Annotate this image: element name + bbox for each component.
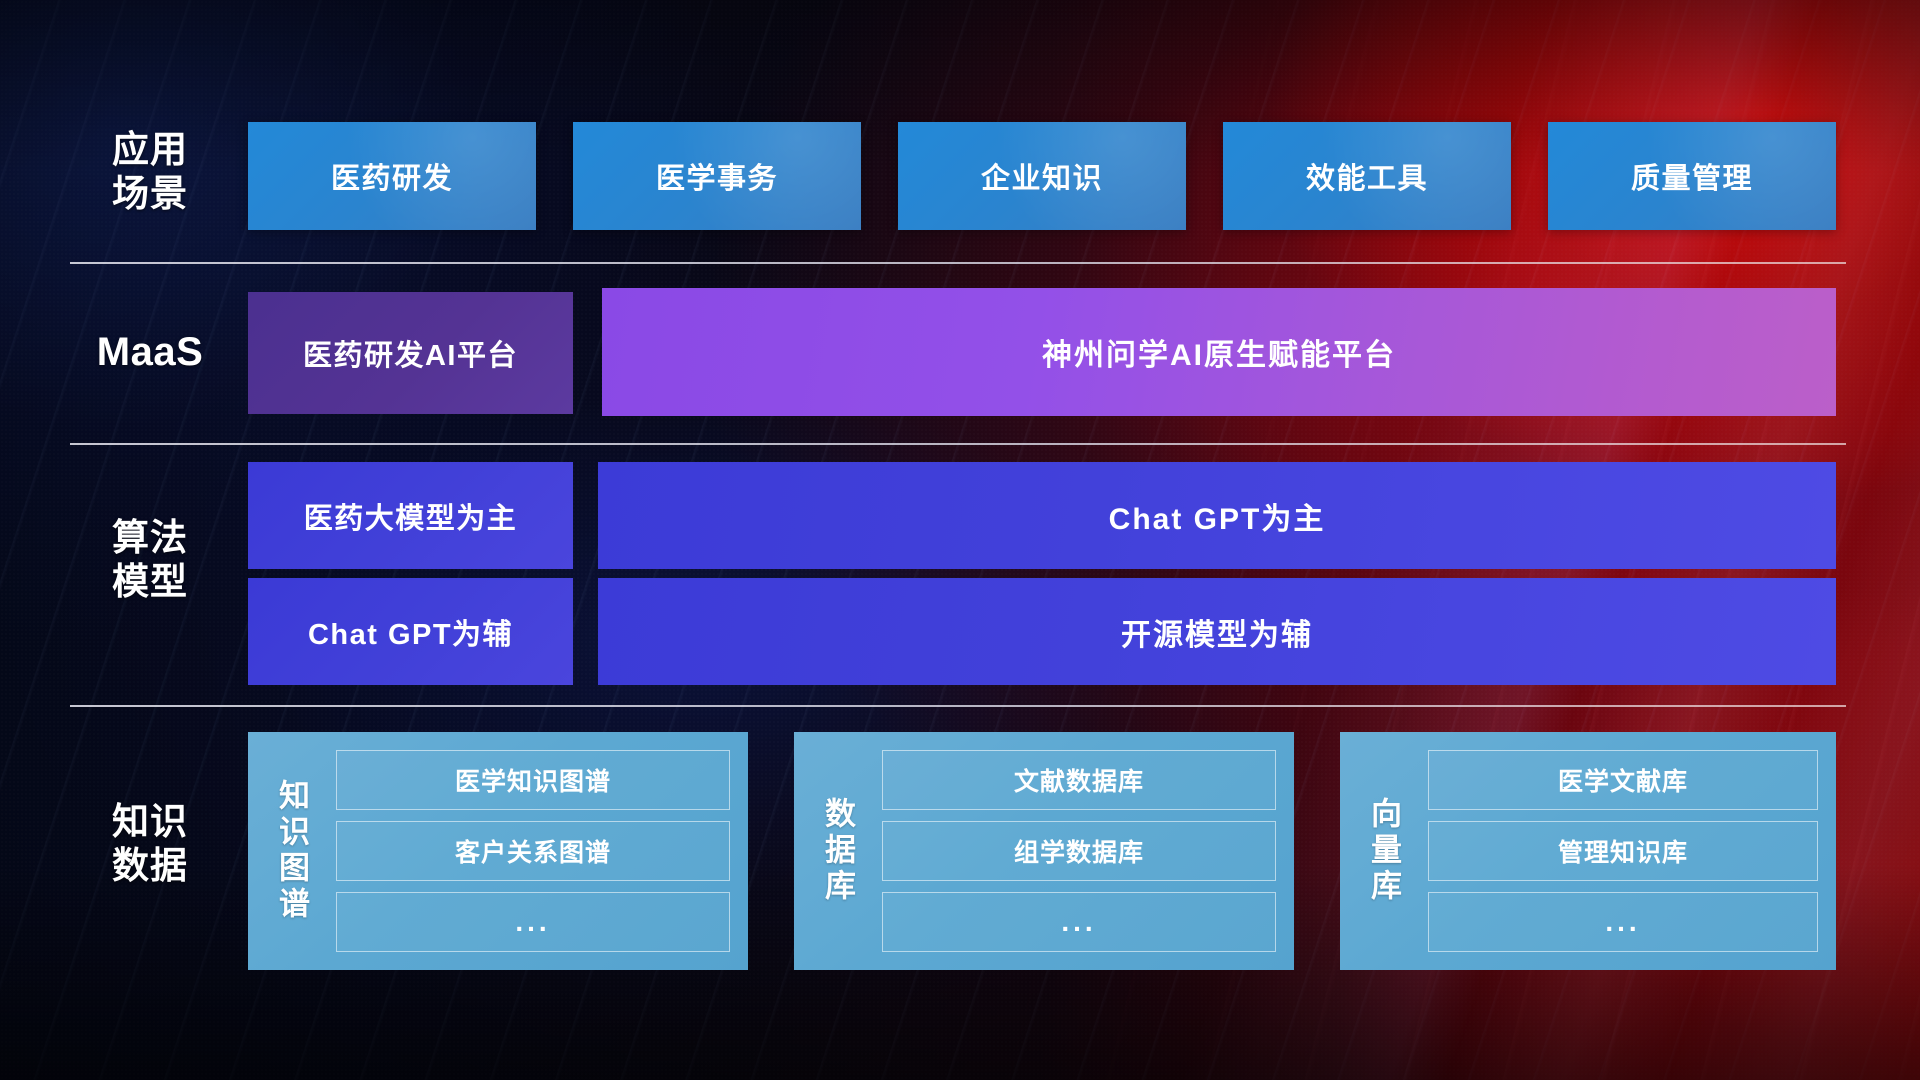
architecture-diagram: 应用 场景 医药研发 医学事务 企业知识 效能工具 质量管理 MaaS [0,0,1920,1080]
row-label-line-2: 场景 [70,172,230,216]
row-label-application-scenarios: 应用 场景 [70,128,230,216]
row-label-line-2: 数据 [70,844,230,888]
knowledge-card-vertical-label: 知识图谱 [260,746,322,956]
app-scenario-box-2[interactable]: 医学事务 [573,122,861,230]
maas-box-pharma-ai-platform[interactable]: 医药研发AI平台 [248,292,573,414]
app-scenario-label: 效能工具 [1306,155,1428,197]
knowledge-card-item[interactable]: 医学知识图谱 [336,750,730,810]
slide-canvas: 应用 场景 医药研发 医学事务 企业知识 效能工具 质量管理 MaaS [0,0,1920,1080]
knowledge-card-item[interactable]: 管理知识库 [1428,821,1818,881]
row-label-algorithm-models: 算法 模型 [70,516,230,604]
knowledge-card-item-more[interactable]: ... [336,892,730,952]
app-scenario-label: 企业知识 [981,155,1103,197]
app-scenario-box-1[interactable]: 医药研发 [248,122,536,230]
knowledge-card-item-more[interactable]: ... [1428,892,1818,952]
knowledge-card-knowledge-graph[interactable]: 知识图谱 医学知识图谱 客户关系图谱 ... [248,732,748,970]
row-label-line-1: 算法 [70,516,230,560]
knowledge-card-vertical-label: 向量库 [1352,746,1414,956]
maas-box-shenzhou-wenxue-platform[interactable]: 神州问学AI原生赋能平台 [602,288,1836,416]
knowledge-card-vector-store[interactable]: 向量库 医学文献库 管理知识库 ... [1340,732,1836,970]
algorithm-box-primary-right[interactable]: Chat GPT为主 [598,462,1836,569]
knowledge-card-database[interactable]: 数据库 文献数据库 组学数据库 ... [794,732,1294,970]
row-label-line-1: 应用 [70,128,230,172]
algorithm-box-label: 医药大模型为主 [304,495,518,537]
algorithm-box-label: Chat GPT为主 [1109,494,1326,538]
row-label-line-1: 知识 [70,800,230,844]
knowledge-card-item[interactable]: 医学文献库 [1428,750,1818,810]
maas-box-label: 医药研发AI平台 [303,332,518,374]
algorithm-box-secondary-left[interactable]: Chat GPT为辅 [248,578,573,685]
knowledge-card-item[interactable]: 组学数据库 [882,821,1276,881]
algorithm-box-label: 开源模型为辅 [1121,610,1313,654]
app-scenario-box-4[interactable]: 效能工具 [1223,122,1511,230]
app-scenario-label: 质量管理 [1631,155,1753,197]
row-divider-3 [70,705,1846,707]
knowledge-card-item[interactable]: 文献数据库 [882,750,1276,810]
row-divider-2 [70,443,1846,445]
app-scenario-box-3[interactable]: 企业知识 [898,122,1186,230]
app-scenario-label: 医学事务 [656,155,778,197]
knowledge-card-item-list: 医学文献库 管理知识库 ... [1414,746,1822,956]
algorithm-box-secondary-right[interactable]: 开源模型为辅 [598,578,1836,685]
knowledge-card-item-list: 文献数据库 组学数据库 ... [868,746,1280,956]
knowledge-card-item-list: 医学知识图谱 客户关系图谱 ... [322,746,734,956]
row-label-maas: MaaS [70,330,230,374]
row-label-knowledge-data: 知识 数据 [70,800,230,888]
knowledge-card-vertical-label: 数据库 [806,746,868,956]
app-scenario-label: 医药研发 [331,155,453,197]
knowledge-card-item-more[interactable]: ... [882,892,1276,952]
row-divider-1 [70,262,1846,264]
maas-box-label: 神州问学AI原生赋能平台 [1042,330,1396,374]
knowledge-card-item[interactable]: 客户关系图谱 [336,821,730,881]
algorithm-box-label: Chat GPT为辅 [308,611,513,653]
algorithm-box-primary-left[interactable]: 医药大模型为主 [248,462,573,569]
row-label-line-2: 模型 [70,560,230,604]
app-scenario-box-5[interactable]: 质量管理 [1548,122,1836,230]
row-label-text: MaaS [70,330,230,374]
